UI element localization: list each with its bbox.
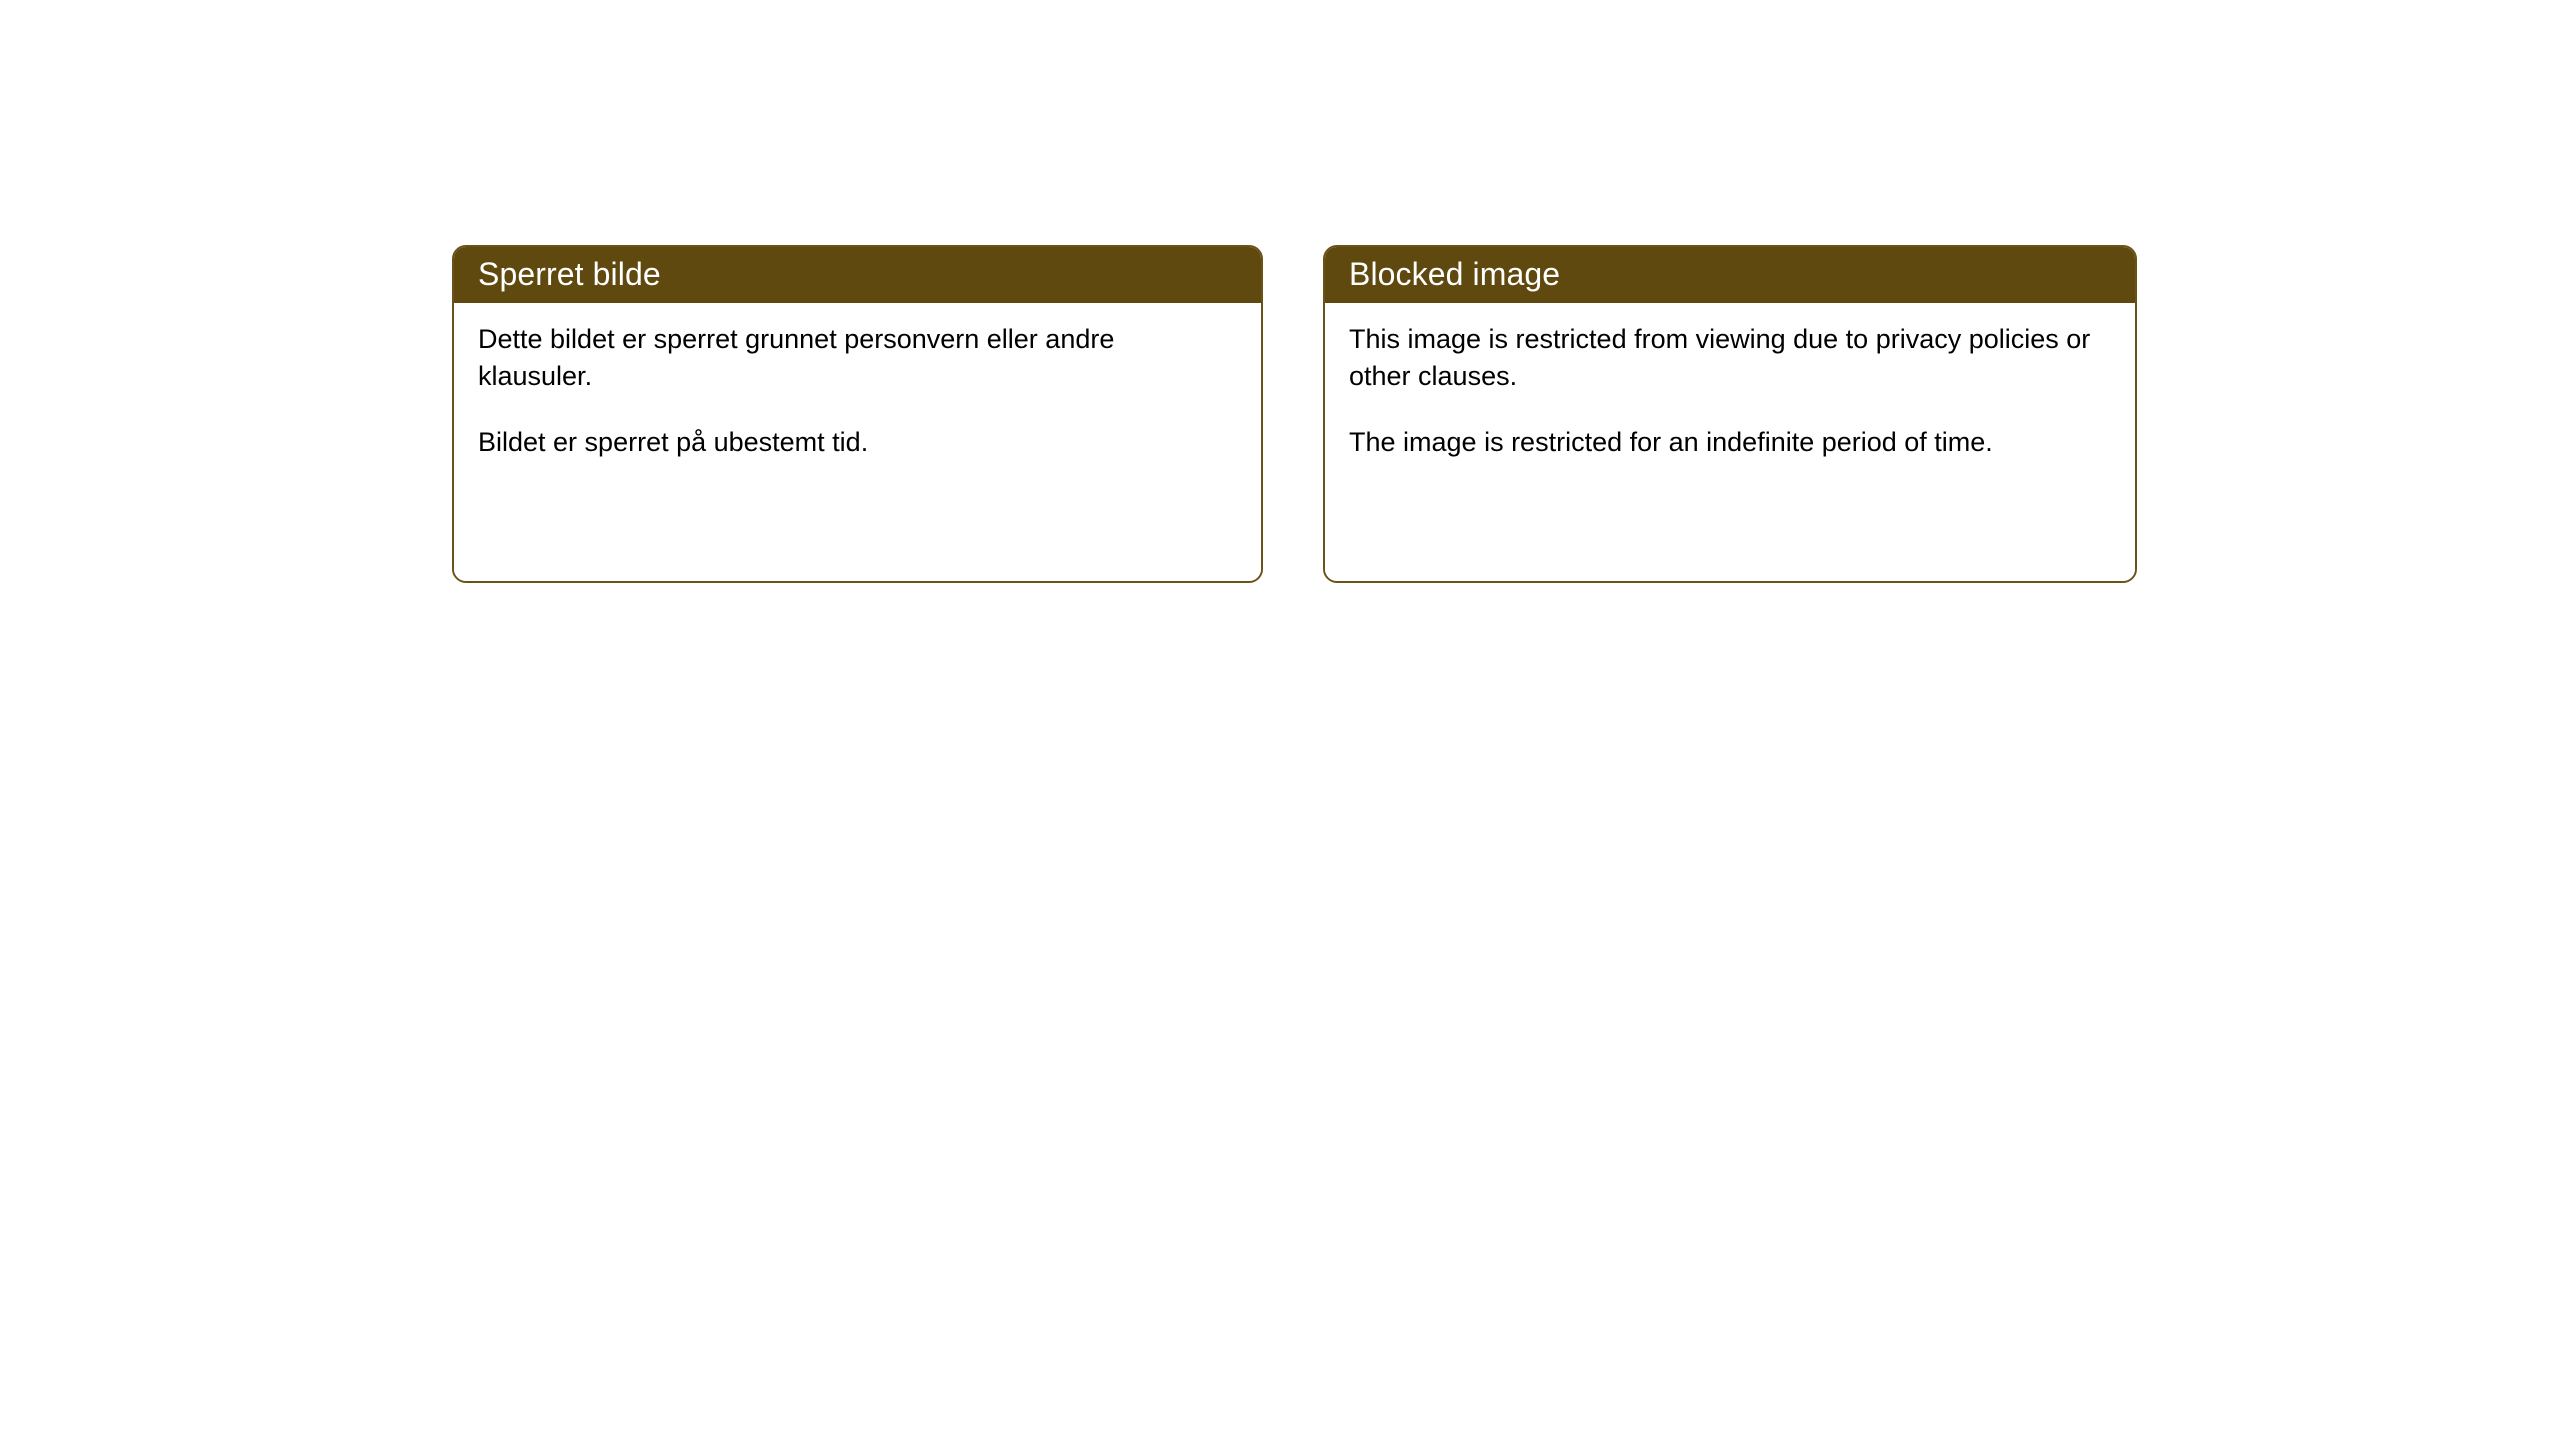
card-body-english: This image is restricted from viewing du… <box>1325 303 2135 581</box>
notice-paragraph-primary-english: This image is restricted from viewing du… <box>1349 321 2109 394</box>
card-header-title-english: Blocked image <box>1325 247 2135 303</box>
card-header-title-norwegian: Sperret bilde <box>454 247 1261 303</box>
notice-paragraph-secondary-english: The image is restricted for an indefinit… <box>1349 424 2109 461</box>
notice-paragraph-primary-norwegian: Dette bildet er sperret grunnet personve… <box>478 321 1178 394</box>
card-body-norwegian: Dette bildet er sperret grunnet personve… <box>454 303 1261 581</box>
page-root: Sperret bilde Dette bildet er sperret gr… <box>0 0 2560 1440</box>
blocked-image-notice-card-english: Blocked image This image is restricted f… <box>1323 245 2137 583</box>
notice-paragraph-secondary-norwegian: Bildet er sperret på ubestemt tid. <box>478 424 1178 461</box>
blocked-image-notice-card-norwegian: Sperret bilde Dette bildet er sperret gr… <box>452 245 1263 583</box>
notice-card-group: Sperret bilde Dette bildet er sperret gr… <box>452 245 2137 583</box>
